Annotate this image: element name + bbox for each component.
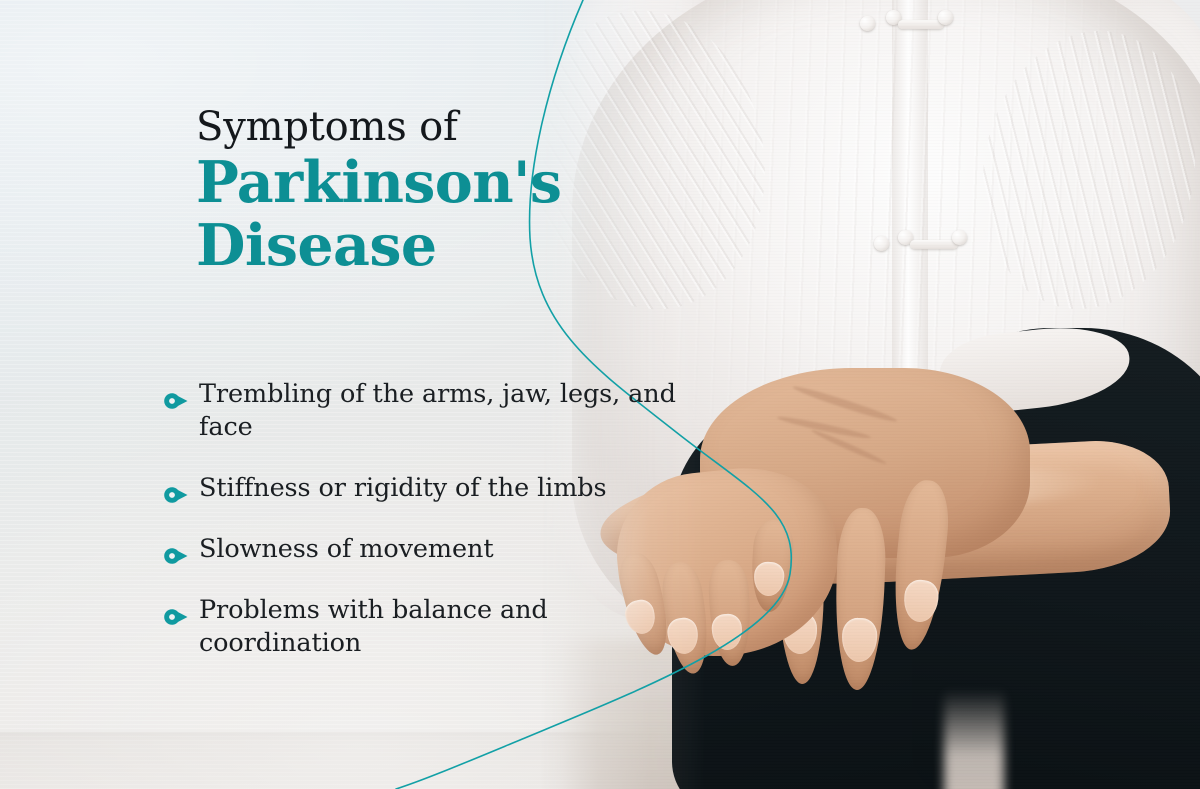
headline-line-2b: Disease	[196, 214, 616, 277]
list-item: Trembling of the arms, jaw, legs, and fa…	[163, 378, 683, 444]
list-item-label: Slowness of movement	[199, 533, 683, 566]
list-item: Stiffness or rigidity of the limbs	[163, 472, 683, 505]
headline-line-2a: Parkinson's	[196, 151, 616, 214]
teal-pin-bullet-icon	[163, 386, 189, 404]
teal-pin-bullet-icon	[163, 602, 189, 620]
list-item-label: Problems with balance and coordination	[199, 594, 683, 660]
symptoms-list: Trembling of the arms, jaw, legs, and fa…	[163, 378, 683, 660]
teal-pin-bullet-icon	[163, 541, 189, 559]
list-item-label: Stiffness or rigidity of the limbs	[199, 472, 683, 505]
infographic-poster: Symptoms of Parkinson's Disease Tremblin…	[0, 0, 1200, 789]
headline-line-1: Symptoms of	[196, 104, 616, 151]
list-item: Problems with balance and coordination	[163, 594, 683, 660]
list-item-label: Trembling of the arms, jaw, legs, and fa…	[199, 378, 683, 444]
page-title: Symptoms of Parkinson's Disease	[196, 104, 616, 277]
teal-pin-bullet-icon	[163, 480, 189, 498]
list-item: Slowness of movement	[163, 533, 683, 566]
